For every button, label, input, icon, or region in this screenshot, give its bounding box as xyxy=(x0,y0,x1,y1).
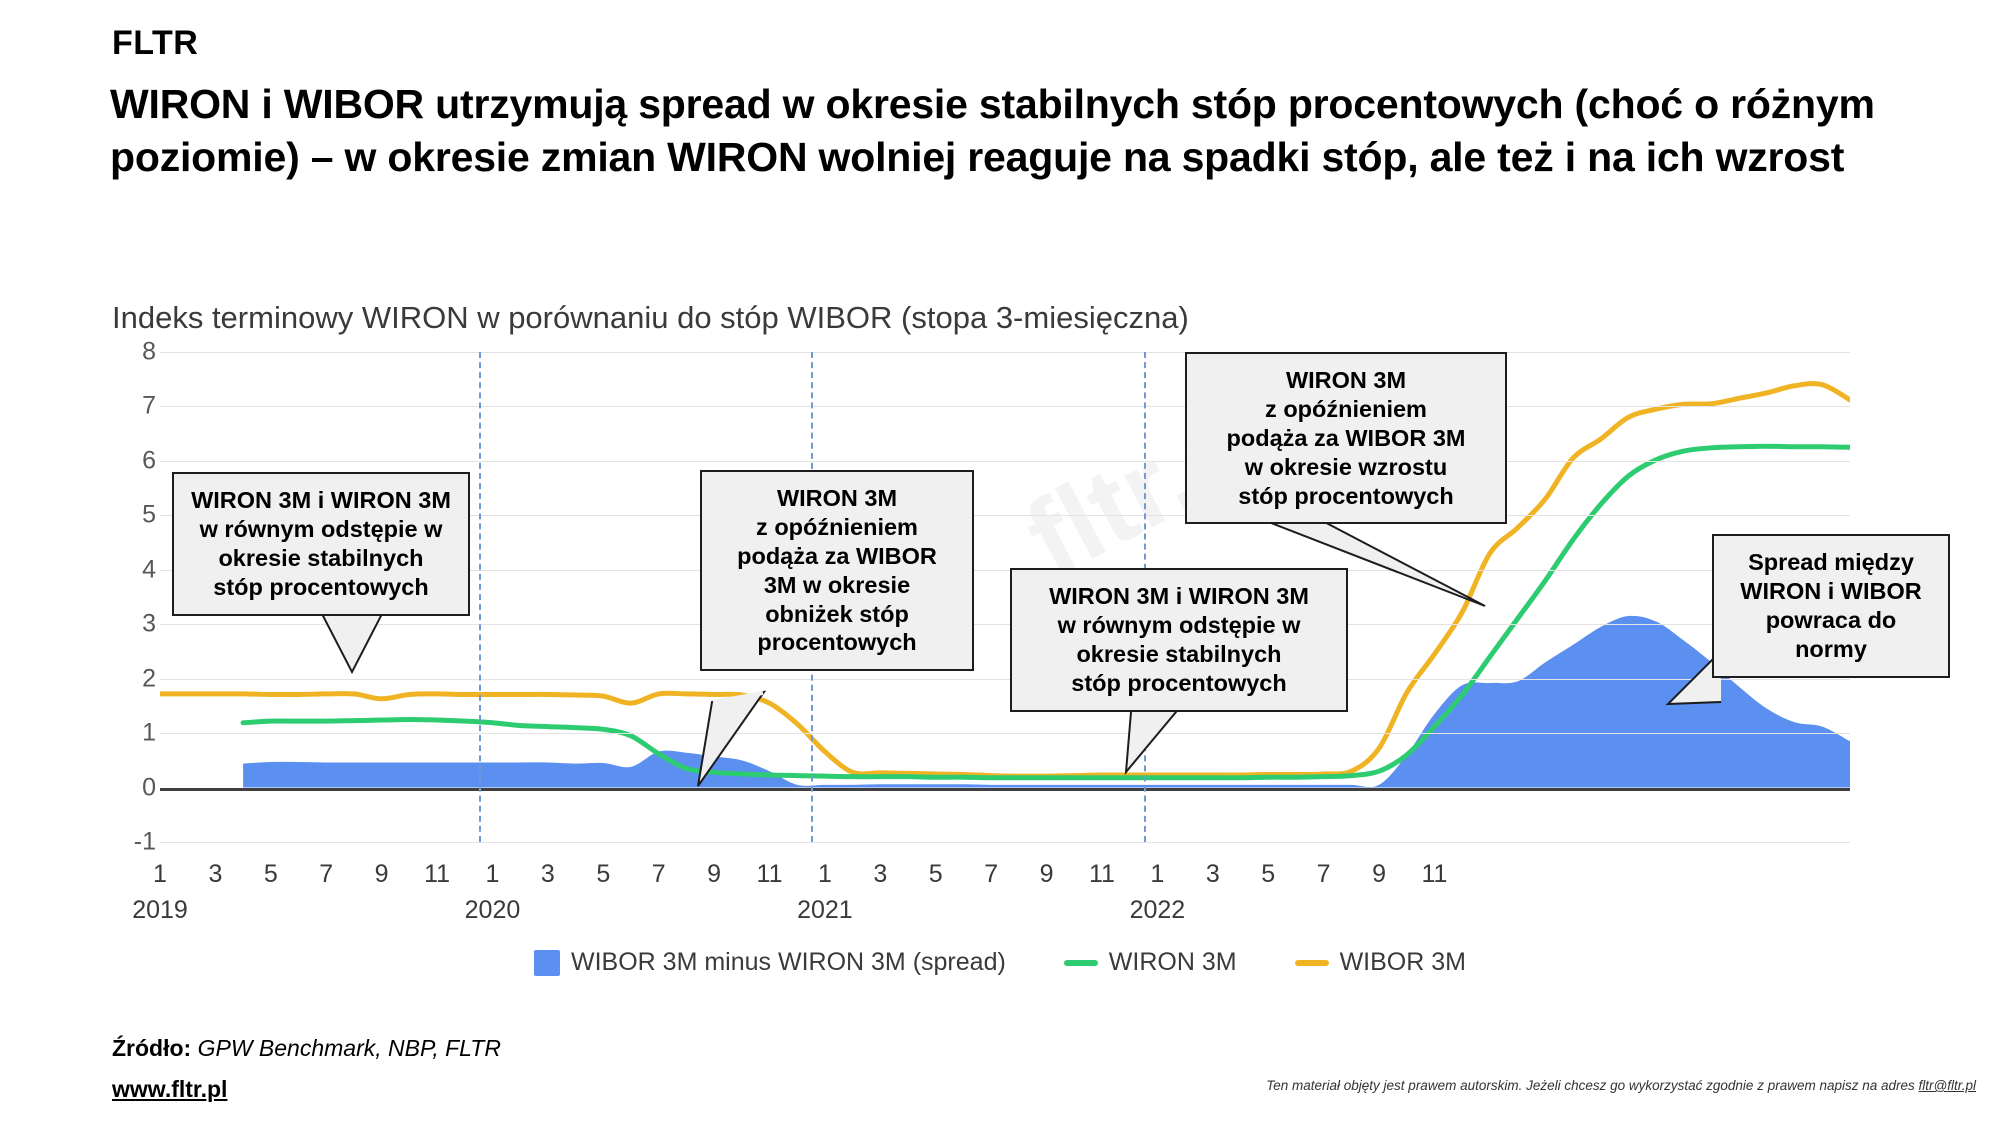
x-tick-label: 1 xyxy=(818,860,832,889)
callout-stable-2: WIRON 3M i WIRON 3M w równym odstępie w … xyxy=(1010,568,1348,712)
x-tick-label: 3 xyxy=(208,860,222,889)
x-tick-label: 5 xyxy=(929,860,943,889)
y-tick-label: 0 xyxy=(142,773,156,802)
gridline xyxy=(160,406,1850,407)
spread-swatch-icon xyxy=(534,950,560,976)
y-tick-label: 1 xyxy=(142,719,156,748)
gridline xyxy=(160,842,1850,843)
x-year-label: 2021 xyxy=(797,896,853,925)
x-year-label: 2020 xyxy=(465,896,521,925)
legend-label-wibor: WIBOR 3M xyxy=(1340,948,1466,977)
x-tick-label: 1 xyxy=(486,860,500,889)
y-tick-label: 6 xyxy=(142,446,156,475)
x-tick-label: 11 xyxy=(1421,860,1447,889)
x-year-label: 2022 xyxy=(1130,896,1186,925)
callout-stable-1: WIRON 3M i WIRON 3M w równym odstępie w … xyxy=(172,472,470,616)
x-tick-label: 1 xyxy=(1150,860,1164,889)
x-tick-label: 9 xyxy=(1040,860,1054,889)
x-tick-label: 3 xyxy=(873,860,887,889)
x-tick-label: 1 xyxy=(153,860,167,889)
wiron-swatch-icon xyxy=(1064,960,1098,966)
page-title: WIRON i WIBOR utrzymują spread w okresie… xyxy=(110,78,1910,185)
y-tick-label: 7 xyxy=(142,392,156,421)
callout-cuts: WIRON 3M z opóźnieniem podąża za WIBOR 3… xyxy=(700,470,974,671)
callout-hikes: WIRON 3M z opóźnieniem podąża za WIBOR 3… xyxy=(1185,352,1507,524)
brand-logo: FLTR xyxy=(112,24,198,63)
copyright-note: Ten materiał objęty jest prawem autorski… xyxy=(1266,1078,1976,1093)
gridline xyxy=(160,733,1850,734)
gridline xyxy=(160,461,1850,462)
x-tick-label: 7 xyxy=(1317,860,1331,889)
callout-stable-2-tail xyxy=(1010,700,1350,780)
legend-item-spread[interactable]: WIBOR 3M minus WIRON 3M (spread) xyxy=(534,948,1006,977)
legend-item-wiron[interactable]: WIRON 3M xyxy=(1064,948,1237,977)
y-tick-label: 5 xyxy=(142,501,156,530)
callout-normal: Spread między WIRON i WIBOR powraca do n… xyxy=(1712,534,1950,678)
x-tick-label: 9 xyxy=(707,860,721,889)
chart-legend: WIBOR 3M minus WIRON 3M (spread) WIRON 3… xyxy=(0,948,2000,977)
x-tick-label: 11 xyxy=(424,860,450,889)
website-link[interactable]: www.fltr.pl xyxy=(112,1076,227,1103)
legend-label-spread: WIBOR 3M minus WIRON 3M (spread) xyxy=(571,948,1006,977)
legend-item-wibor[interactable]: WIBOR 3M xyxy=(1295,948,1466,977)
x-tick-label: 5 xyxy=(264,860,278,889)
x-tick-label: 5 xyxy=(596,860,610,889)
zero-axis-line xyxy=(160,788,1850,791)
y-tick-label: 3 xyxy=(142,610,156,639)
x-tick-label: 11 xyxy=(1089,860,1115,889)
y-tick-label: 8 xyxy=(142,338,156,367)
x-tick-label: 3 xyxy=(541,860,555,889)
legend-label-wiron: WIRON 3M xyxy=(1109,948,1237,977)
x-axis-labels: 1201935791112020357911120213579111202235… xyxy=(160,860,1850,940)
x-tick-label: 7 xyxy=(984,860,998,889)
source-value: GPW Benchmark, NBP, FLTR xyxy=(198,1035,501,1061)
x-tick-label: 9 xyxy=(1372,860,1386,889)
chart-subtitle: Indeks terminowy WIRON w porównaniu do s… xyxy=(112,300,1189,336)
x-tick-label: 3 xyxy=(1206,860,1220,889)
x-tick-label: 5 xyxy=(1261,860,1275,889)
copyright-email[interactable]: fltr@fltr.pl xyxy=(1919,1078,1976,1093)
source-label: Źródło: xyxy=(112,1035,191,1061)
x-tick-label: 7 xyxy=(319,860,333,889)
slide: fltr.pl FLTR WIRON i WIBOR utrzymują spr… xyxy=(0,0,2000,1125)
y-axis-labels: 876543210-1 xyxy=(100,340,156,860)
x-tick-label: 9 xyxy=(375,860,389,889)
x-year-label: 2019 xyxy=(132,896,188,925)
copyright-text: Ten materiał objęty jest prawem autorski… xyxy=(1266,1078,1918,1093)
x-tick-label: 11 xyxy=(757,860,783,889)
source-line: Źródło: GPW Benchmark, NBP, FLTR xyxy=(112,1035,501,1062)
callout-cuts-tail xyxy=(620,690,1000,800)
callout-stable-1-tail xyxy=(172,610,472,680)
y-tick-label: 4 xyxy=(142,555,156,584)
year-divider-2020 xyxy=(479,352,481,842)
y-tick-label: -1 xyxy=(134,828,156,857)
gridline xyxy=(160,352,1850,353)
x-tick-label: 7 xyxy=(652,860,666,889)
wibor-swatch-icon xyxy=(1295,960,1329,966)
y-tick-label: 2 xyxy=(142,664,156,693)
